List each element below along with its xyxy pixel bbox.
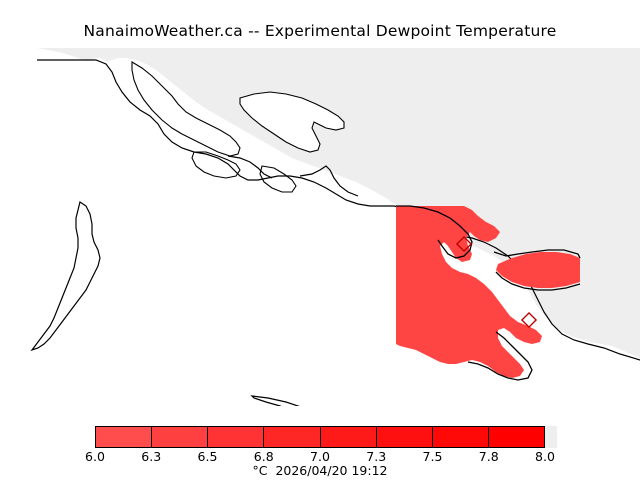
- inlet-mid-small: [192, 152, 240, 178]
- colorbar[interactable]: [95, 426, 545, 448]
- island-chain-outline: [252, 396, 382, 406]
- island-left-outline: [32, 202, 100, 350]
- colorbar-segment-6[interactable]: [433, 427, 489, 447]
- colorbar-tick-6.0: 6.0: [85, 449, 105, 464]
- colorbar-caption: °C 2026/04/20 19:12: [0, 463, 640, 478]
- colorbar-tick-7.3: 7.3: [366, 449, 386, 464]
- colorbar-segment-4[interactable]: [321, 427, 377, 447]
- colorbar-segment-1[interactable]: [152, 427, 208, 447]
- colorbar-tick-7.8: 7.8: [479, 449, 499, 464]
- colorbar-tick-6.3: 6.3: [141, 449, 161, 464]
- colorbar-tick-7.5: 7.5: [423, 449, 443, 464]
- colorbar-segment-5[interactable]: [377, 427, 433, 447]
- weather-map-page: NanaimoWeather.ca -- Experimental Dewpoi…: [0, 0, 640, 480]
- map-canvas[interactable]: [0, 46, 640, 406]
- island-chain-lower: [252, 396, 414, 406]
- mainland-landmass: [37, 48, 640, 358]
- colorbar-overflow-strip: [545, 426, 557, 448]
- land-polygons: [37, 48, 640, 358]
- colorbar-segment-2[interactable]: [208, 427, 264, 447]
- colorbar-segment-3[interactable]: [264, 427, 320, 447]
- map-graphic: [0, 46, 640, 406]
- colorbar-segments[interactable]: [95, 426, 545, 448]
- colorbar-tick-6.5: 6.5: [198, 449, 218, 464]
- colorbar-segment-0[interactable]: [96, 427, 152, 447]
- colorbar-tick-8.0: 8.0: [535, 449, 555, 464]
- colorbar-tick-7.0: 7.0: [310, 449, 330, 464]
- page-title: NanaimoWeather.ca -- Experimental Dewpoi…: [0, 22, 640, 40]
- colorbar-tick-6.8: 6.8: [254, 449, 274, 464]
- colorbar-segment-7[interactable]: [489, 427, 544, 447]
- island-left: [32, 202, 100, 350]
